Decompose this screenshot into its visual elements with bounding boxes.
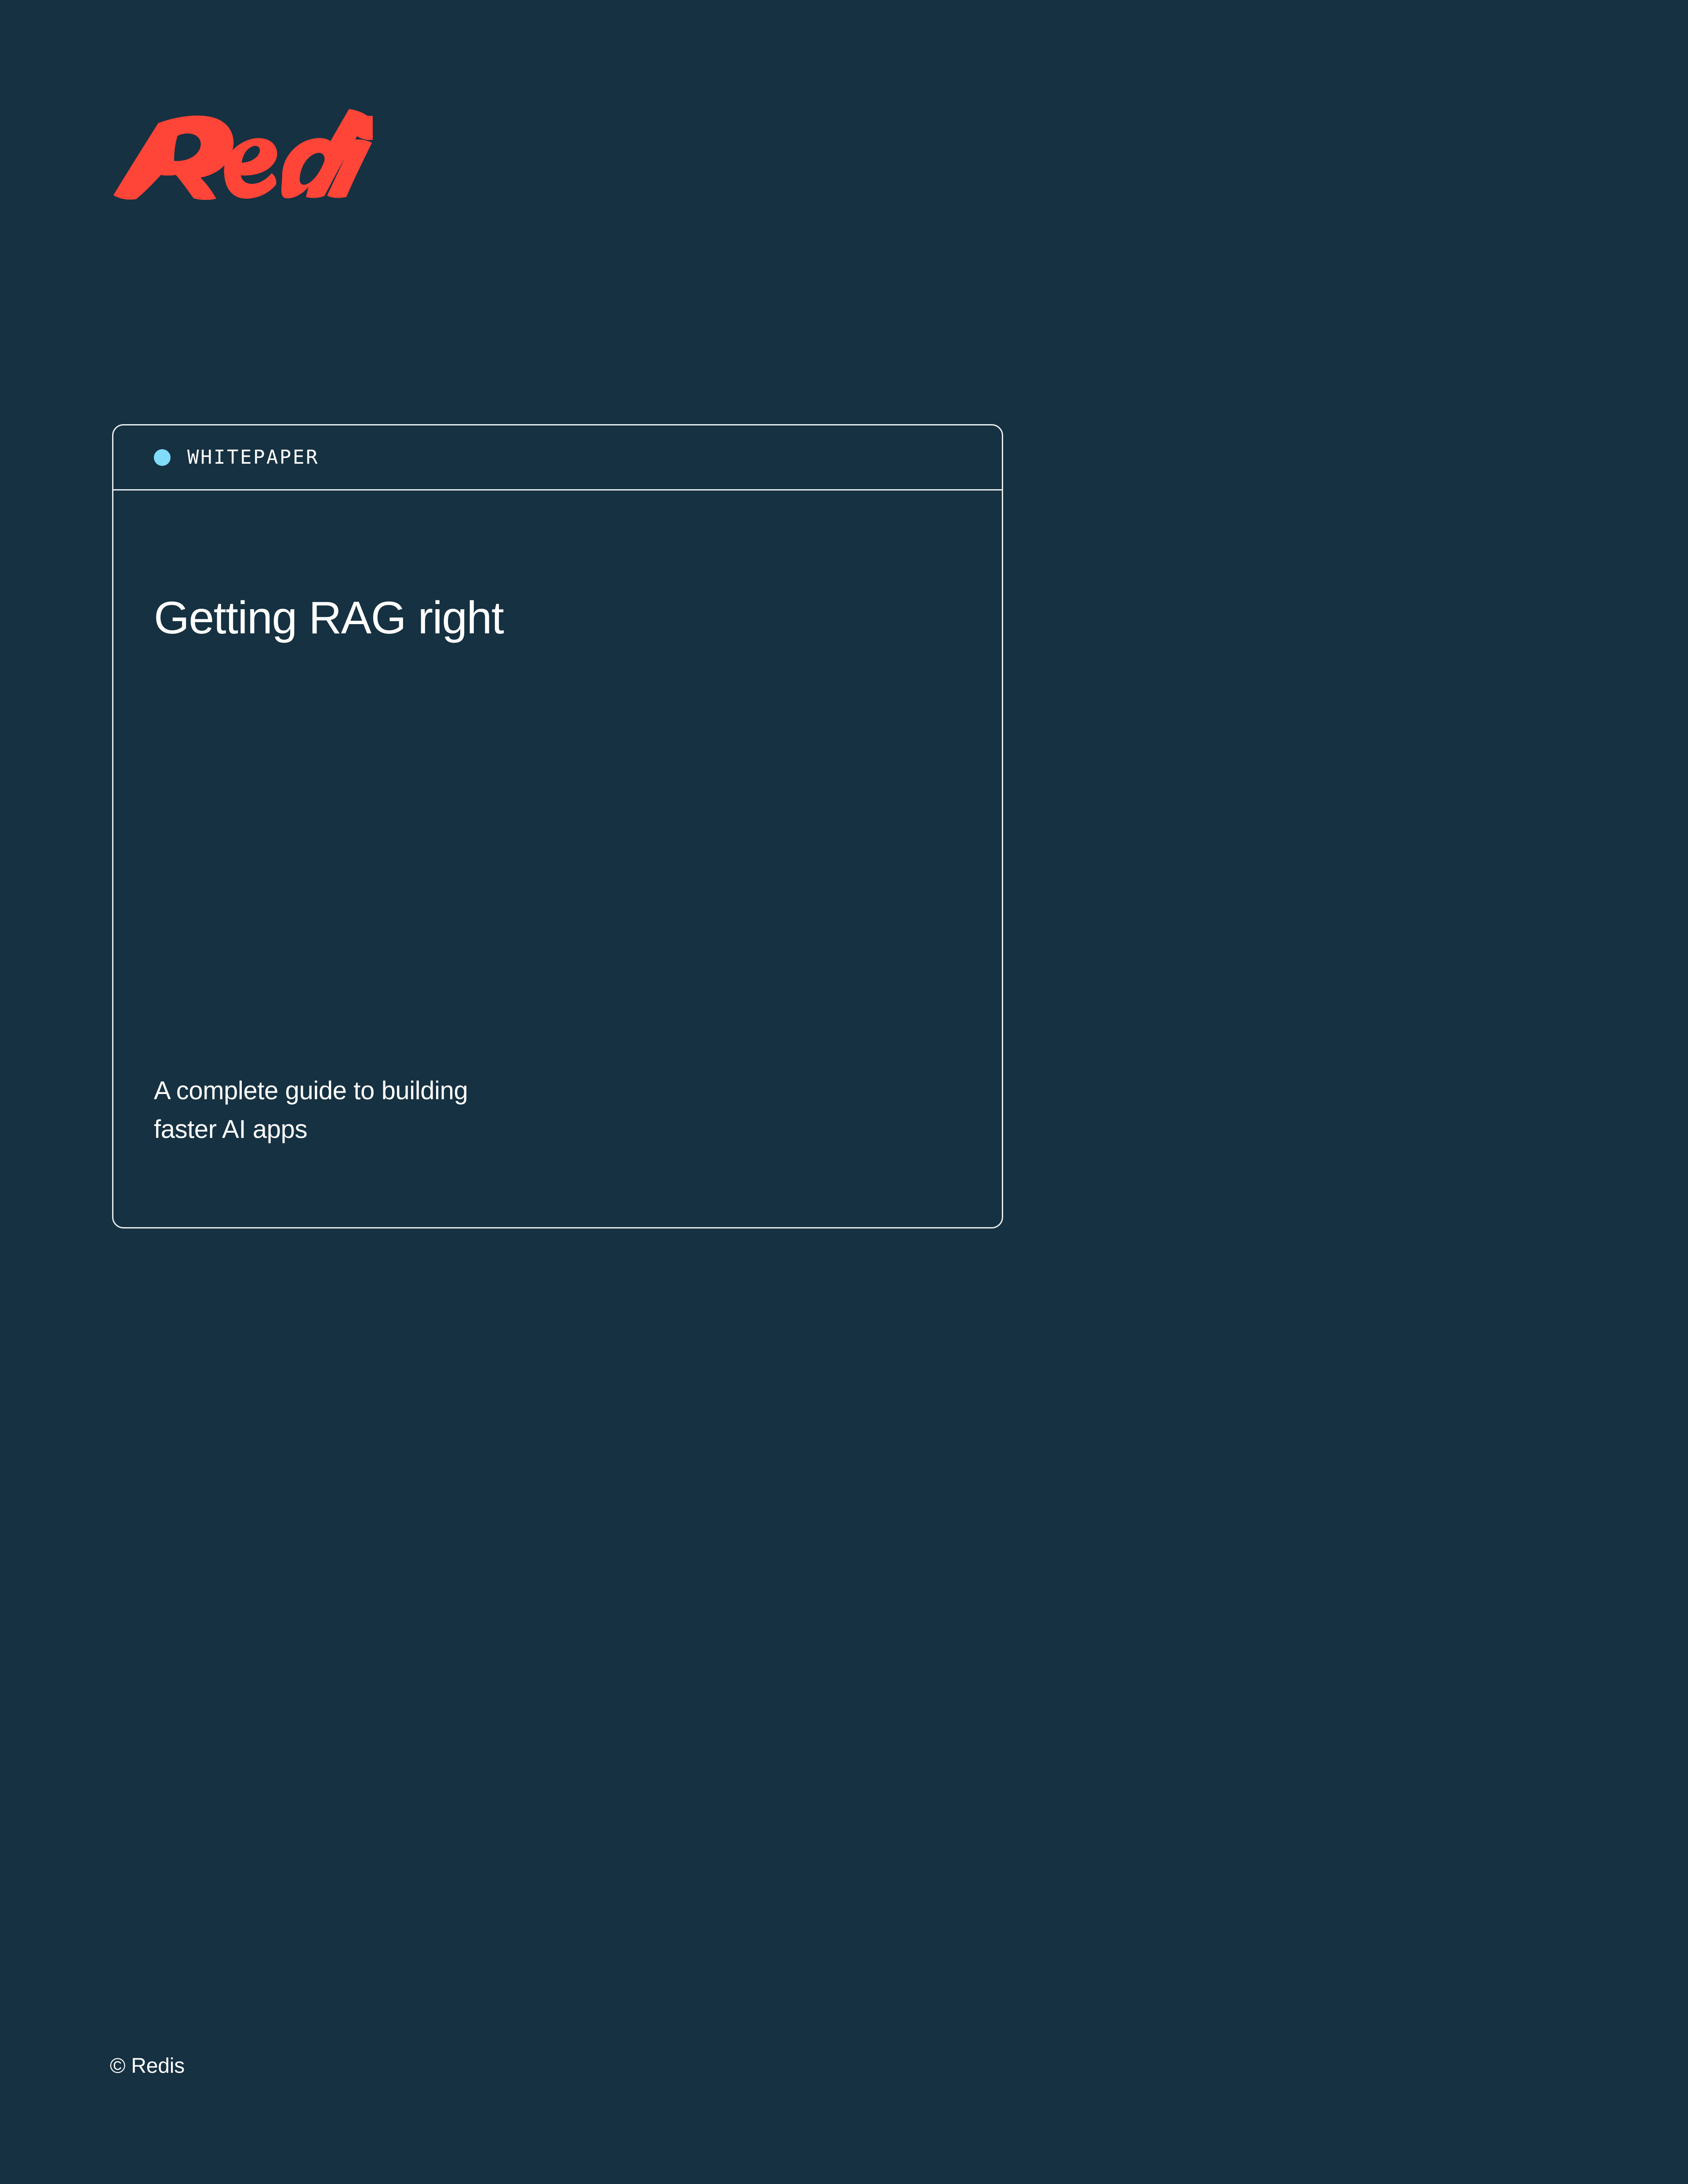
whitepaper-badge-label: WHITEPAPER — [187, 448, 319, 467]
cover-subtitle: A complete guide to building faster AI a… — [154, 1072, 468, 1149]
status-dot-icon — [154, 449, 171, 466]
cover-subtitle-line-2: faster AI apps — [154, 1110, 468, 1149]
footer-copyright: © Redis — [110, 2053, 185, 2079]
cover-title: Getting RAG right — [154, 592, 961, 643]
cover-card: WHITEPAPER Getting RAG right A complete … — [112, 424, 1003, 1228]
redis-logo — [109, 109, 373, 201]
whitepaper-badge: WHITEPAPER — [113, 425, 1002, 491]
cover-subtitle-line-1: A complete guide to building — [154, 1072, 468, 1110]
redis-wordmark-icon — [109, 109, 373, 201]
cover-card-body: Getting RAG right A complete guide to bu… — [113, 491, 1002, 1227]
